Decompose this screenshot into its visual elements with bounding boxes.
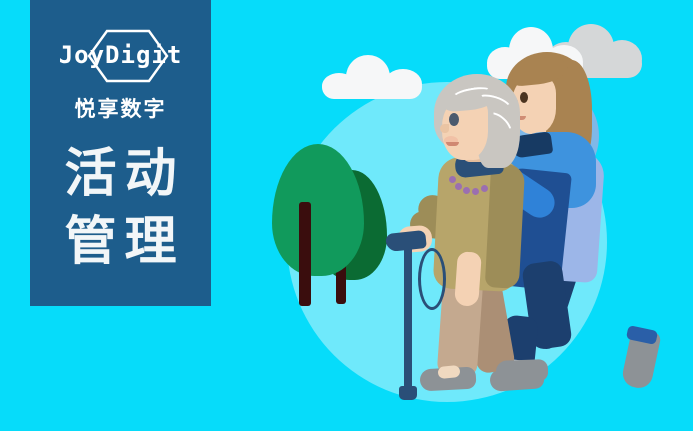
walking-cane-shaft	[404, 240, 412, 392]
elder-mouth	[446, 142, 459, 146]
elder-eye	[449, 113, 459, 126]
elder-necklace-bead	[472, 188, 479, 195]
page-title-line-1: 活动	[30, 140, 211, 208]
elder-necklace-bead	[463, 187, 470, 194]
walking-cane-strap	[418, 248, 446, 310]
page-title: 活动 管理	[30, 140, 211, 276]
walking-cane-tip	[399, 386, 417, 400]
elder-back-shoe	[496, 359, 549, 383]
logo-chinese-name: 悦享数字	[30, 97, 211, 123]
elder-front-hand	[454, 251, 482, 307]
elder-necklace-bead	[455, 183, 462, 190]
elder-nose	[440, 124, 449, 133]
elder-necklace-bead	[481, 185, 488, 192]
cloud-left-icon	[322, 53, 422, 98]
young-man-eye	[520, 92, 528, 103]
illustration-banner: JoyDigit 悦享数字 活动 管理	[0, 0, 693, 431]
logo-wordmark: JoyDigit	[49, 40, 193, 70]
elder-necklace-bead	[449, 176, 456, 183]
page-title-line-2: 管理	[30, 208, 211, 276]
elder-sweater-shadow	[485, 163, 525, 289]
tree-front-trunk	[299, 202, 311, 306]
title-panel: JoyDigit 悦享数字 活动 管理	[30, 0, 211, 306]
logo-block: JoyDigit 悦享数字	[30, 28, 211, 123]
logo-hexagon-icon: JoyDigit	[49, 28, 193, 84]
